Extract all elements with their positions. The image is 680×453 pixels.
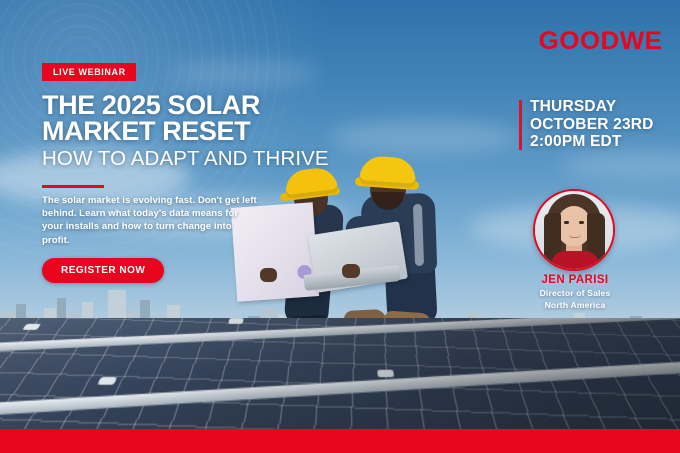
cloud — [170, 60, 320, 86]
event-time: 2:00PM EDT — [530, 133, 670, 151]
register-now-button[interactable]: REGISTER NOW — [42, 258, 164, 283]
cloud — [560, 150, 680, 180]
bottom-red-bar — [0, 429, 680, 453]
headline-line-1: THE 2025 SOLAR — [42, 92, 342, 118]
description-text: The solar market is evolving fast. Don't… — [42, 194, 260, 247]
red-divider — [42, 185, 104, 188]
speaker-title: Director of Sales North America — [500, 288, 650, 311]
speaker-avatar — [533, 189, 615, 271]
event-datetime: THURSDAY OCTOBER 23RD 2:00PM EDT — [530, 98, 670, 151]
page-title: THE 2025 SOLAR MARKET RESET — [42, 92, 342, 144]
subheadline: HOW TO ADAPT AND THRIVE — [42, 147, 362, 171]
speaker-title-line-1: Director of Sales — [500, 288, 650, 300]
live-webinar-badge: LIVE WEBINAR — [42, 63, 136, 81]
speaker-title-line-2: North America — [500, 300, 650, 312]
solar-panel-array — [0, 318, 680, 433]
event-date: OCTOBER 23RD — [530, 116, 670, 134]
headline-line-2: MARKET RESET — [42, 118, 342, 144]
goodwe-logo: GOODWE — [539, 27, 663, 56]
date-accent-bar — [519, 100, 522, 150]
webinar-promo-banner: LIVE WEBINAR THE 2025 SOLAR MARKET RESET… — [0, 0, 680, 453]
event-day: THURSDAY — [530, 98, 670, 116]
speaker-name: JEN PARISI — [500, 274, 650, 286]
